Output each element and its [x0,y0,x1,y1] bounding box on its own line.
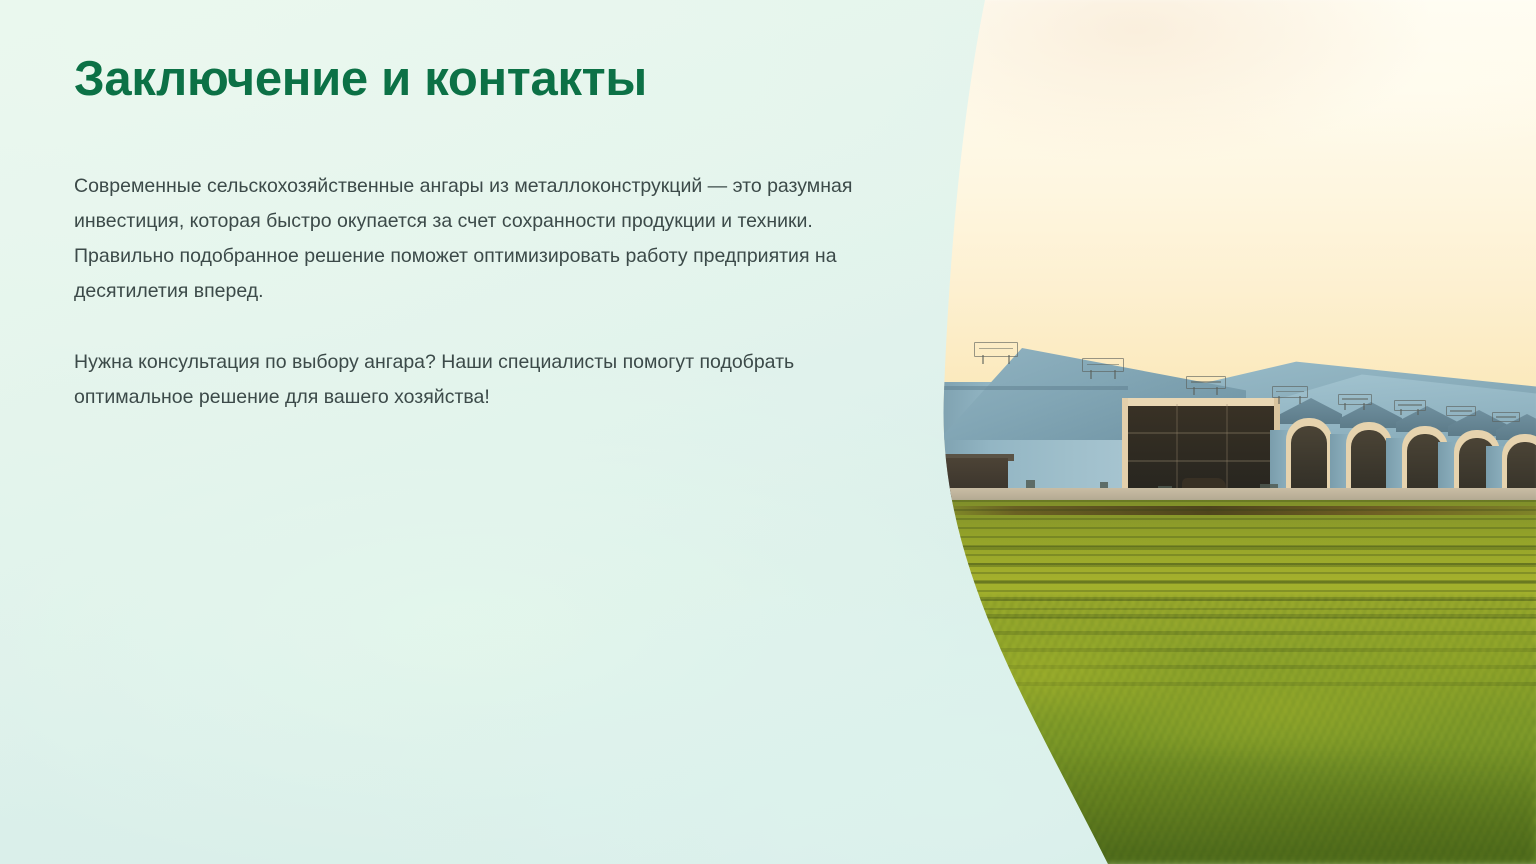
hangar-bay-header-main [1122,398,1280,406]
roof-vent-leg [1363,403,1365,410]
bay-frame-line [1128,432,1272,434]
roof-vent-leg [1344,403,1346,410]
roof-vent-icon [974,342,1018,357]
paragraph-2: Нужна консультация по выбору ангара? Наш… [74,345,804,415]
hangar-bay-jamb-left [1122,398,1128,500]
roof-vent-leg [1400,409,1402,415]
roof-vent-leg [1299,396,1301,404]
bay-frame-line [1128,460,1272,462]
hangar-main-eave [932,386,1128,390]
roof-vent-leg [1114,370,1116,379]
roof-vent-leg [1090,370,1092,379]
roof-vent-leg [982,355,984,364]
bay-frame-post [1226,404,1228,498]
metal-hangar-complex [930,340,1536,505]
roof-vent-icon [1492,412,1520,422]
roof-vent-icon [1186,376,1226,389]
slide: Заключение и контакты Современные сельск… [0,0,1536,864]
bay-frame-post [1176,404,1178,498]
slide-content: Заключение и контакты Современные сельск… [74,52,874,415]
paragraph-1: Современные сельскохозяйственные ангары … [74,169,874,309]
body-copy: Современные сельскохозяйственные ангары … [74,169,874,415]
roof-vent-leg [1417,409,1419,415]
roof-vent-icon [1082,358,1124,372]
roof-vent-icon [1446,406,1476,416]
roof-vent-leg [1008,355,1010,364]
roof-vent-icon [1394,400,1426,411]
roof-vent-leg [1278,396,1280,404]
roof-vent-leg [1193,387,1195,395]
roof-vent-leg [1216,387,1218,395]
page-title: Заключение и контакты [74,52,874,107]
